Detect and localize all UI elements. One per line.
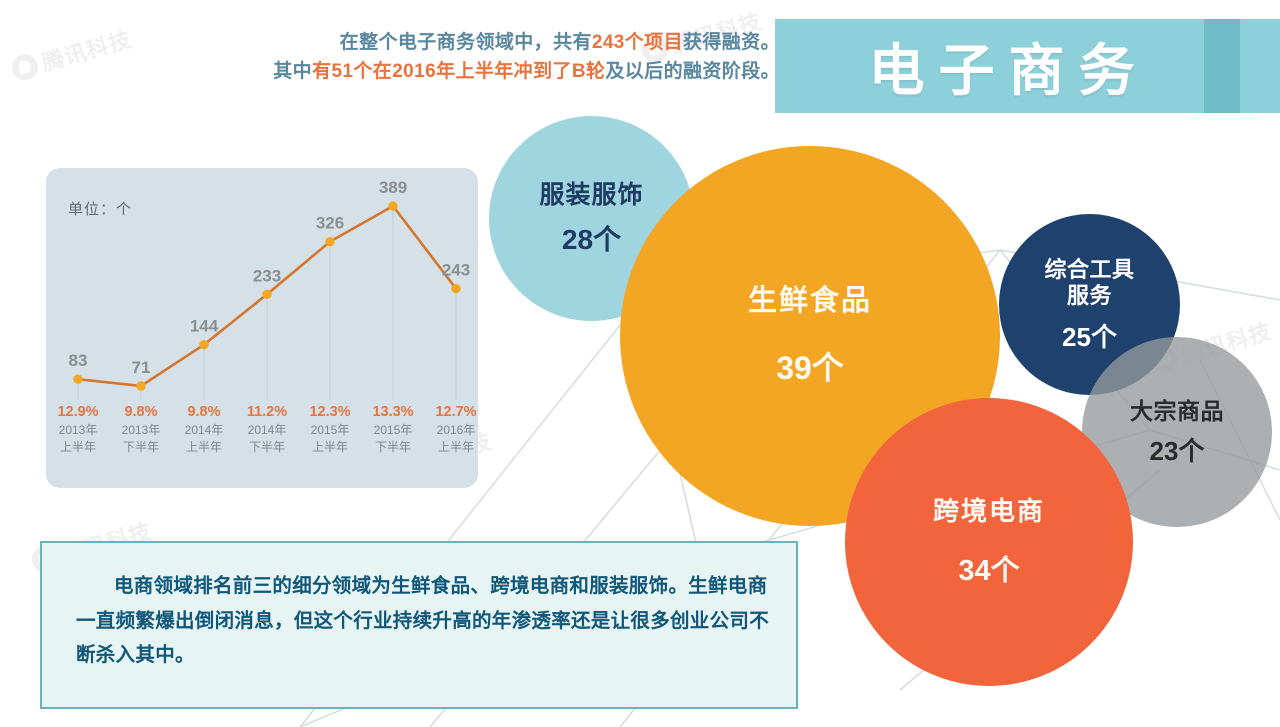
- chart-value-label: 144: [190, 317, 219, 336]
- bubble-bulk-commodity-value: 23个: [1150, 436, 1205, 467]
- chart-x-axis-label: 下半年: [249, 440, 285, 454]
- chart-x-axis-label: 上半年: [312, 440, 348, 454]
- chart-value-label: 71: [132, 358, 151, 377]
- bubble-cross-border-label: 跨境电商: [933, 496, 1045, 527]
- chart-data-point[interactable]: [74, 375, 82, 383]
- chart-x-axis-label: 2015年: [374, 423, 413, 437]
- chart-data-point[interactable]: [389, 202, 397, 210]
- header-line1-highlight: 243个项目: [592, 32, 683, 53]
- header-summary: 在整个电子商务领域中，共有243个项目获得融资。 其中有51个在2016年上半年…: [180, 28, 780, 87]
- bubble-cross-border-value: 34个: [958, 554, 1019, 588]
- chart-percent-label: 9.8%: [124, 404, 157, 420]
- page-title: 电子商务: [775, 19, 1228, 113]
- chart-x-axis-label: 上半年: [438, 440, 474, 454]
- watermark-logo-icon: [9, 51, 41, 83]
- chart-percent-label: 12.9%: [57, 404, 98, 420]
- bubble-integrated-tools-value: 25个: [1062, 322, 1117, 353]
- bubble-fresh-food-value: 39个: [776, 350, 844, 388]
- watermark: 腾讯科技: [10, 38, 133, 70]
- chart-value-label: 243: [442, 261, 470, 280]
- bubble-fresh-food-label: 生鲜食品: [748, 284, 872, 318]
- header-line2-post: 及以后的融资阶段。: [605, 61, 780, 82]
- chart-x-axis-label: 2013年: [59, 423, 98, 437]
- chart-x-axis-label: 上半年: [186, 440, 222, 454]
- chart-value-label: 233: [253, 266, 281, 285]
- chart-percent-label: 12.3%: [309, 404, 350, 420]
- bubble-bulk-commodity-label: 大宗商品: [1130, 398, 1224, 425]
- chart-value-label: 326: [316, 214, 344, 233]
- header-line2-pre: 其中: [273, 61, 312, 82]
- chart-value-label: 83: [69, 351, 88, 370]
- chart-percent-label: 11.2%: [247, 404, 287, 420]
- summary-note-text: 电商领域排名前三的细分领域为生鲜食品、跨境电商和服装服饰。生鲜电商一直频繁爆出倒…: [76, 569, 770, 673]
- title-banner: 电子商务: [775, 19, 1280, 113]
- bubble-cross-border[interactable]: 跨境电商 34个: [845, 398, 1133, 686]
- chart-percent-label: 13.3%: [372, 404, 413, 420]
- chart-data-point[interactable]: [326, 237, 334, 245]
- header-line2-highlight: 有51个在2016年上半年冲到了B轮: [312, 61, 605, 82]
- chart-x-axis-label: 2014年: [248, 423, 287, 437]
- chart-x-axis-label: 下半年: [375, 440, 411, 454]
- chart-x-axis-label: 2014年: [185, 423, 224, 437]
- chart-x-axis-label: 2015年: [311, 423, 350, 437]
- chart-percent-label: 12.7%: [435, 404, 476, 420]
- bubble-apparel-label: 服装服饰: [539, 181, 643, 211]
- chart-x-axis-label: 2016年: [437, 423, 476, 437]
- bubble-integrated-tools-label-line1: 综合工具: [1044, 257, 1134, 283]
- line-chart-panel: 单位：个 837114423332638924312.9%9.8%9.8%11.…: [46, 168, 478, 488]
- header-line1-post: 获得融资。: [683, 32, 780, 53]
- chart-x-axis-label: 下半年: [123, 440, 159, 454]
- chart-data-point[interactable]: [137, 382, 145, 390]
- bubble-apparel-value: 28个: [562, 223, 621, 256]
- chart-data-point[interactable]: [200, 340, 208, 348]
- summary-note-box: 电商领域排名前三的细分领域为生鲜食品、跨境电商和服装服饰。生鲜电商一直频繁爆出倒…: [40, 541, 798, 709]
- chart-data-point[interactable]: [263, 290, 271, 298]
- chart-x-axis-label: 上半年: [60, 440, 96, 454]
- chart-percent-label: 9.8%: [187, 404, 220, 420]
- watermark-label: 腾讯科技: [38, 22, 135, 78]
- header-line1-pre: 在整个电子商务领域中，共有: [340, 32, 592, 53]
- chart-data-point[interactable]: [452, 284, 460, 292]
- chart-x-axis-label: 2013年: [122, 423, 161, 437]
- header-line-1: 在整个电子商务领域中，共有243个项目获得融资。: [180, 28, 780, 57]
- header-line-2: 其中有51个在2016年上半年冲到了B轮及以后的融资阶段。: [180, 57, 780, 86]
- bubble-integrated-tools-label-line2: 服务: [1067, 283, 1112, 309]
- chart-value-label: 389: [379, 178, 407, 197]
- line-chart-svg: 837114423332638924312.9%9.8%9.8%11.2%12.…: [46, 168, 478, 488]
- infographic-root: 腾讯科技 腾讯科技 腾讯科技 腾讯科技 腾讯科技 腾讯科技: [0, 0, 1280, 727]
